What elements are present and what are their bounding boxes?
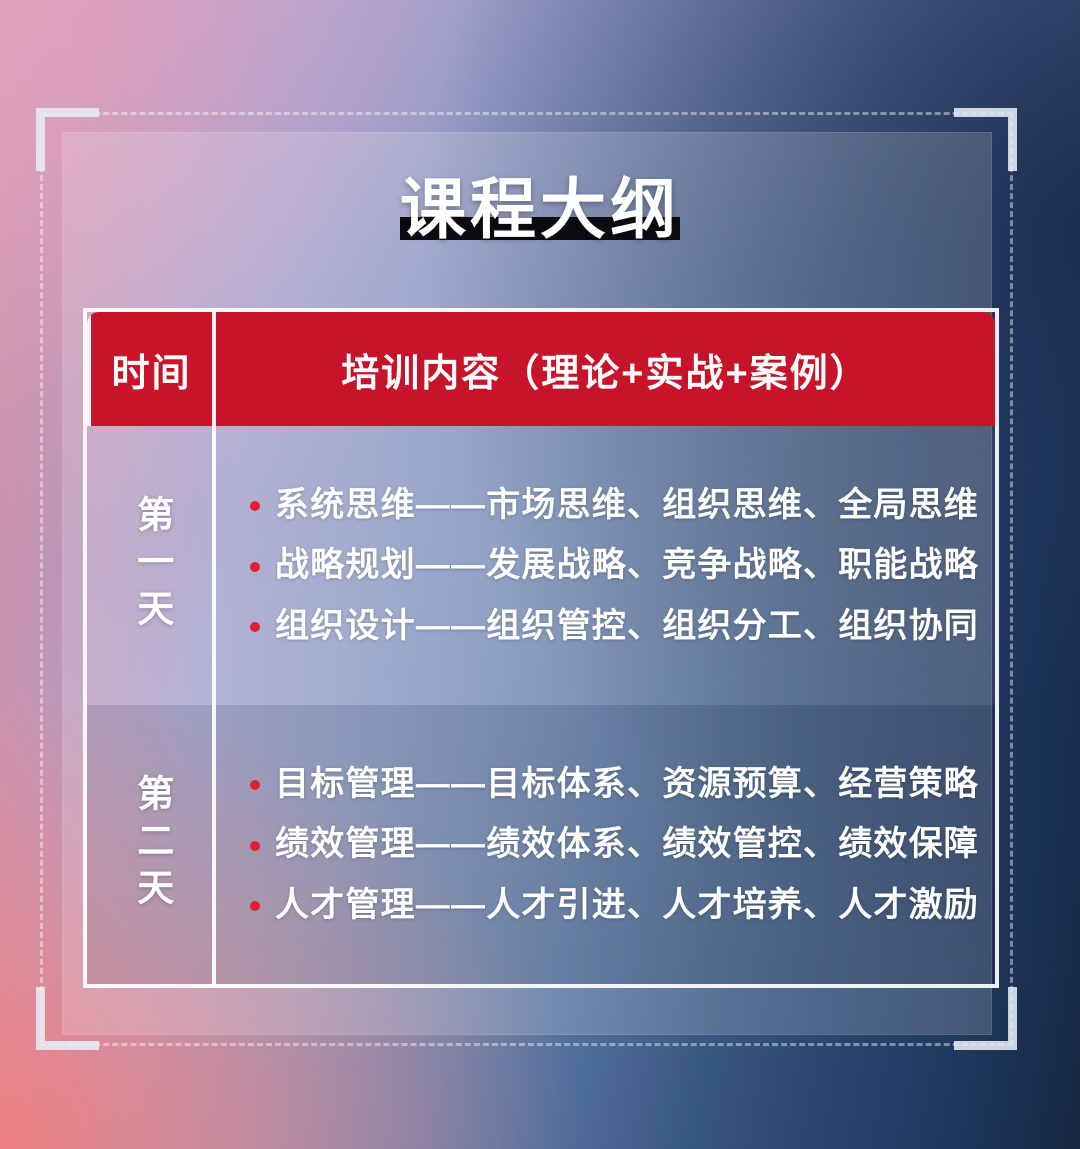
day-cell: 第一天	[87, 426, 216, 705]
list-item-label: 战略规划——发展战略、竞争战略、职能战略	[275, 544, 979, 587]
column-header-content: 培训内容（理论+实战+案例）	[216, 312, 995, 426]
course-outline-table: 时间 培训内容（理论+实战+案例） 第一天 系统思维——市场思维、组织思维、全局…	[87, 312, 995, 984]
list-item-label: 人才管理——人才引进、人才培养、人才激励	[275, 884, 979, 927]
table-row: 第二天 目标管理——目标体系、资源预算、经营策略 绩效管理——绩效体系、绩效管控…	[87, 705, 995, 984]
column-header-time: 时间	[87, 312, 216, 426]
bullet-icon	[250, 901, 260, 911]
content-cell: 系统思维——市场思维、组织思维、全局思维 战略规划——发展战略、竞争战略、职能战…	[216, 426, 1019, 705]
page-title-inner: 课程大纲	[396, 176, 684, 242]
list-item: 系统思维——市场思维、组织思维、全局思维	[250, 484, 979, 527]
bullet-icon	[250, 562, 260, 572]
course-outline-poster: 课程大纲 时间 培训内容（理论+实战+案例） 第一天 系统思维——市场思维、组织…	[0, 0, 1080, 1149]
list-item-label: 目标管理——目标体系、资源预算、经营策略	[275, 763, 979, 806]
list-item: 人才管理——人才引进、人才培养、人才激励	[250, 884, 979, 927]
list-item: 绩效管理——绩效体系、绩效管控、绩效保障	[250, 823, 979, 866]
list-item-label: 系统思维——市场思维、组织思维、全局思维	[275, 484, 979, 527]
list-item: 战略规划——发展战略、竞争战略、职能战略	[250, 544, 979, 587]
bullet-icon	[250, 841, 260, 851]
day-cell: 第二天	[87, 705, 216, 984]
day-label: 第二天	[125, 774, 178, 915]
list-item: 组织设计——组织管控、组织分工、组织协同	[250, 605, 979, 648]
bullet-icon	[250, 622, 260, 632]
table-header-row: 时间 培训内容（理论+实战+案例）	[87, 312, 995, 426]
bullet-icon	[250, 780, 260, 790]
content-cell: 目标管理——目标体系、资源预算、经营策略 绩效管理——绩效体系、绩效管控、绩效保…	[216, 705, 1019, 984]
bullet-icon	[250, 501, 260, 511]
list-item-label: 组织设计——组织管控、组织分工、组织协同	[275, 605, 979, 648]
day-label: 第一天	[125, 495, 178, 636]
table-row: 第一天 系统思维——市场思维、组织思维、全局思维 战略规划——发展战略、竞争战略…	[87, 426, 995, 705]
page-title-wrap: 课程大纲	[0, 176, 1080, 242]
list-item: 目标管理——目标体系、资源预算、经营策略	[250, 763, 979, 806]
list-item-label: 绩效管理——绩效体系、绩效管控、绩效保障	[275, 823, 979, 866]
page-title: 课程大纲	[400, 176, 680, 242]
